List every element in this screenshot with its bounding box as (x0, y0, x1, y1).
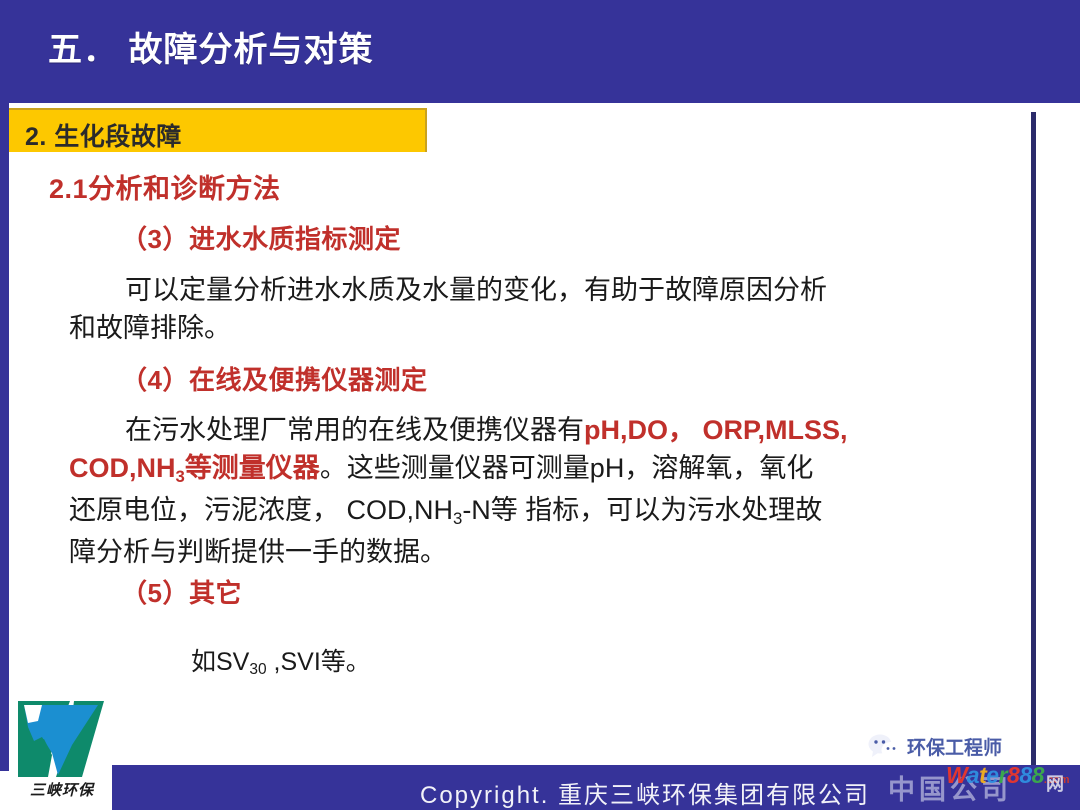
footer-copyright: Copyright. 重庆三峡环保集团有限公司 (420, 775, 870, 810)
watermark-wechat: 环保工程师 (868, 733, 1002, 760)
watermark-site-letter-1: W (946, 762, 967, 788)
item-heading-3: （3）进水水质指标测定 (121, 219, 401, 256)
company-logo: 三峡环保 (12, 697, 112, 803)
item-5-body: 如SV30 ,SVI等。 (191, 643, 371, 685)
item-4-line1-black: 在污水处理厂常用的在线及便携仪器有 (125, 415, 584, 445)
item-4-line2-red-b: 等测量仪器 (185, 453, 320, 483)
item-4-body-line-2: COD,NH3等测量仪器。这些测量仪器可测量pH，溶解氧，氧化 (69, 449, 1014, 491)
slide-root: 五． 故障分析与对策 2. 生化段故障 2.1分析和诊断方法 （3）进水水质指标… (0, 0, 1080, 810)
item-3-body-line-1: 可以定量分析进水水质及水量的变化，有助于故障原因分析 (69, 271, 1009, 309)
item-4-body: 在污水处理厂常用的在线及便携仪器有pH,DO， ORP,MLSS, COD,NH… (69, 411, 1014, 571)
item-4-body-line-3: 还原电位，污泥浓度， COD,NH3-N等 指标，可以为污水处理故 (69, 491, 1014, 533)
watermark-site-letter-2: a (967, 762, 979, 788)
wechat-icon (868, 734, 902, 760)
company-logo-wordmark: 三峡环保 (12, 779, 112, 800)
section-banner: 2. 生化段故障 (9, 108, 427, 152)
item-5-line1-sub: 30 (249, 661, 266, 678)
item-4-line2-black: 。这些测量仪器可测量pH，溶解氧，氧化 (320, 453, 814, 483)
item-4-line3-a: 还原电位，污泥浓度， COD,NH (69, 495, 453, 525)
item-3-body-line-2: 和故障排除。 (69, 309, 1009, 347)
watermark-site-letter-5: r (999, 762, 1007, 788)
section-banner-label: 2. 生化段故障 (25, 117, 182, 153)
item-4-line1-red: pH,DO， ORP,MLSS, (584, 415, 848, 445)
item-4-line2-red-sub: 3 (176, 467, 185, 486)
slide-body: 2.1分析和诊断方法 （3）进水水质指标测定 可以定量分析进水水质及水量的变化，… (9, 155, 1031, 765)
watermark-site-letter-6: 8 (1007, 762, 1019, 788)
sub-heading-2-1: 2.1分析和诊断方法 (49, 167, 281, 206)
item-4-body-line-4: 障分析与判断提供一手的数据。 (69, 533, 1014, 571)
item-4-line3-sub: 3 (453, 509, 462, 528)
left-rail-divider (0, 103, 9, 771)
company-logo-mark (12, 697, 112, 783)
item-4-body-line-1: 在污水处理厂常用的在线及便携仪器有pH,DO， ORP,MLSS, (69, 411, 1014, 449)
item-5-line1-b: ,SVI等。 (267, 648, 371, 676)
item-heading-5: （5）其它 (121, 573, 242, 610)
item-3-body: 可以定量分析进水水质及水量的变化，有助于故障原因分析 和故障排除。 (69, 271, 1009, 347)
item-5-line1-a: 如SV (191, 648, 249, 676)
item-4-line2-red-a: COD,NH (69, 453, 176, 483)
watermark-site-letter-4: e (986, 762, 998, 788)
watermark-site-cn: 网 (1046, 770, 1064, 796)
watermark-site-letter-8: 8 (1032, 762, 1044, 788)
item-4-line3-b: -N等 指标，可以为污水处理故 (462, 495, 822, 525)
page-title: 五． 故障分析与对策 (48, 28, 373, 72)
watermark-site-letter-7: 8 (1019, 762, 1031, 788)
right-vertical-rule (1031, 112, 1036, 765)
slide-header-band: 五． 故障分析与对策 (0, 0, 1080, 103)
watermark-wechat-label: 环保工程师 (907, 733, 1002, 760)
item-heading-4: （4）在线及便携仪器测定 (121, 360, 427, 397)
